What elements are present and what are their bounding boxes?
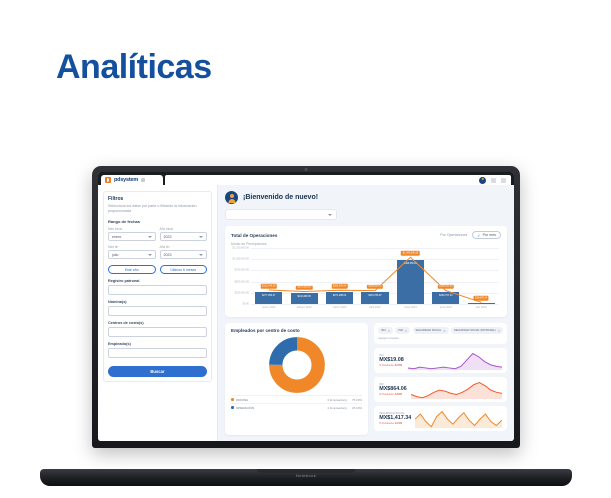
- metric-sparkline: [411, 380, 502, 399]
- metric-value: MX$19.08: [379, 357, 404, 363]
- concepts-tags-card: ISN✕ISR✕SEGURIDAD SOCIAL✕SEGURIDAD SOCIA…: [374, 323, 507, 344]
- bottom-row: Empleados por centro de costo OFICINA6 E…: [225, 323, 507, 435]
- select-year-start-value: 2023: [164, 235, 172, 239]
- trend-value-label: $306,078.44: [331, 284, 347, 289]
- field-label-empleados: Empleado(s): [108, 342, 207, 346]
- trend-value-label: $278,330.18: [296, 285, 312, 290]
- app-body: Filtros Selecciona los datos por parte o…: [98, 185, 514, 441]
- select-year-end-label: Año fin: [160, 245, 208, 249]
- legend-item[interactable]: OFICINA6 Empleado(s)75.00%: [231, 395, 362, 403]
- select-year-end-value: 2023: [164, 253, 172, 257]
- select-year-end[interactable]: 2023: [160, 250, 208, 259]
- browser-tab[interactable]: pdsystem: [101, 175, 163, 185]
- filters-card: Filtros Selecciona los datos por parte o…: [103, 191, 212, 382]
- select-month-start-label: Mes inicio: [108, 227, 156, 231]
- laptop-brand-label: Notebook: [296, 473, 316, 478]
- browser-chrome: pdsystem: [98, 172, 514, 185]
- concept-tag[interactable]: SEGURIDAD SOCIAL✕: [413, 327, 449, 334]
- quick-range-this-year[interactable]: Este año: [108, 265, 156, 274]
- x-axis-tick: febrero 2023: [291, 306, 318, 309]
- metric-value: MX$1,417.34: [379, 415, 411, 421]
- legend-item[interactable]: OPERACIÓN2 Empleado(s)25.00%: [231, 403, 362, 411]
- select-year-start-group: Año inicio 2023: [160, 227, 208, 241]
- chart-plot-area: $277,056.47$243,289.65$271,288.03$264,78…: [251, 248, 499, 304]
- legend-color-dot: [231, 398, 234, 401]
- donut-legend: OFICINA6 Empleado(s)75.00%OPERACIÓN2 Emp…: [231, 395, 362, 411]
- metric-trend-value: -9.21%: [394, 422, 402, 425]
- trend-polyline: [269, 257, 482, 302]
- metric-card[interactable]: SEGURIDAD SOCIALMX$1,417.34% Tendencia -…: [374, 406, 507, 431]
- select-month-end-label: Mes fin: [108, 245, 156, 249]
- filters-sidebar: Filtros Selecciona los datos por parte o…: [98, 185, 218, 441]
- operations-toggle: Por Operaciones ✓ Por mes: [440, 231, 501, 239]
- legend-count: 6 Empleado(s): [328, 398, 348, 402]
- select-month-end-group: Mes fin julio: [108, 245, 156, 259]
- legend-percent: 75.00%: [352, 398, 362, 402]
- close-icon[interactable]: ✕: [443, 329, 445, 333]
- check-icon: ✓: [477, 233, 480, 238]
- operations-card-title: Total de Operaciones: [231, 233, 277, 238]
- close-icon[interactable]: ✕: [498, 329, 500, 333]
- gridline: [251, 304, 499, 305]
- page-container: Analíticas pdsystem: [0, 0, 611, 498]
- select-month-end[interactable]: julio: [108, 250, 156, 259]
- search-icon[interactable]: [501, 178, 506, 183]
- field-nomina[interactable]: [108, 306, 207, 316]
- operations-card: Total de Operaciones Por Operaciones ✓ P…: [225, 226, 507, 317]
- legend-color-dot: [231, 406, 234, 409]
- concept-tag-label: SEGURIDAD SOCIAL: [416, 329, 442, 332]
- toggle-por-operaciones[interactable]: Por Operaciones: [440, 233, 467, 237]
- operations-bar-chart: $0.00$250,000.00$500,000.00$750,000.00$1…: [231, 248, 501, 312]
- concept-tag-label: SEGURIDAD SOCIAL (PATRONAL): [454, 329, 496, 332]
- menu-icon[interactable]: [491, 178, 496, 183]
- metric-trend-value: -8.62%: [394, 393, 402, 396]
- metric-trend-label: % Tendencia: [379, 364, 393, 367]
- chart-trend-line: [251, 248, 499, 304]
- metric-trend-label: % Tendencia: [379, 393, 393, 396]
- operations-card-header: Total de Operaciones Por Operaciones ✓ P…: [231, 231, 501, 239]
- select-month-end-value: julio: [112, 253, 118, 257]
- logo-text: pdsystem: [114, 177, 138, 183]
- laptop-base: Notebook: [40, 469, 572, 486]
- legend-count: 2 Empleado(s): [328, 406, 348, 410]
- sparkline-area: [415, 411, 502, 427]
- metrics-column: ISN✕ISR✕SEGURIDAD SOCIAL✕SEGURIDAD SOCIA…: [374, 323, 507, 435]
- donut-chart: [231, 333, 362, 395]
- quick-range-last-6-months[interactable]: Últimos 6 meses: [160, 265, 208, 274]
- user-avatar: [225, 191, 238, 204]
- x-axis-tick: marzo 2023: [326, 306, 353, 309]
- field-centros-de-costo[interactable]: [108, 327, 207, 337]
- laptop-lid: pdsystem Filtros Selecc: [92, 166, 520, 448]
- chevron-down-icon: [199, 254, 203, 256]
- field-label-centros-de-costo: Centros de costo(s): [108, 321, 207, 325]
- field-registro-patronal[interactable]: [108, 285, 207, 295]
- metric-text: SEGURIDAD SOCIALMX$1,417.34% Tendencia -…: [379, 412, 411, 425]
- search-button[interactable]: Buscar: [108, 366, 207, 377]
- close-icon[interactable]: ✕: [388, 329, 390, 333]
- trend-value-label: $298,531.02: [438, 284, 454, 289]
- metric-text: ISRMX$864.06% Tendencia -8.62%: [379, 383, 407, 396]
- select-month-start-group: Mes inicio enero: [108, 227, 156, 241]
- legend-percent: 25.00%: [352, 406, 362, 410]
- laptop-screen: pdsystem Filtros Selecc: [98, 172, 514, 441]
- concept-tag[interactable]: SEGURIDAD SOCIAL (PATRONAL)✕: [451, 327, 503, 334]
- add-concept-link[interactable]: Agregar concepto...: [378, 337, 503, 340]
- company-select[interactable]: [225, 209, 337, 220]
- field-label-registro-patronal: Registro patronal: [108, 279, 207, 283]
- legend-label-group: OPERACIÓN: [231, 406, 254, 410]
- chart-x-axis: enero 2023febrero 2023marzo 2023abril 20…: [251, 306, 499, 309]
- x-axis-tick: mayo 2023: [397, 306, 424, 309]
- legend-values: 6 Empleado(s)75.00%: [328, 398, 363, 402]
- chevron-down-icon: [148, 254, 152, 256]
- concept-tag-label: ISN: [381, 329, 385, 332]
- user-avatar-icon[interactable]: [479, 177, 486, 184]
- webcam-icon: [305, 168, 308, 171]
- trend-value-label: $312,046.39: [260, 284, 276, 289]
- y-axis-tick: $250,000.00: [235, 291, 249, 294]
- y-axis-tick: $1,000,000.00: [232, 258, 249, 261]
- metric-trend: % Tendencia -8.62%: [379, 393, 407, 396]
- select-year-end-group: Año fin 2023: [160, 245, 208, 259]
- date-range-grid: Mes inicio enero Año inicio 20: [108, 227, 207, 259]
- chevron-down-icon: [199, 236, 203, 238]
- metric-sparkline: [415, 409, 502, 428]
- welcome-header: ¡Bienvenido de nuevo!: [225, 191, 507, 204]
- field-empleados[interactable]: [108, 348, 207, 358]
- chart-subtitle: Monto de Percepciones: [231, 242, 501, 246]
- quick-range-buttons: Este año Últimos 6 meses: [108, 265, 207, 274]
- metric-trend-value: -8.47%: [394, 364, 402, 367]
- y-axis-tick: $750,000.00: [235, 269, 249, 272]
- concept-tag[interactable]: ISR✕: [395, 327, 410, 334]
- metric-cards: ISNMX$19.08% Tendencia -8.47%ISRMX$864.0…: [374, 348, 507, 435]
- laptop-mockup: pdsystem Filtros Selecc: [40, 166, 572, 486]
- y-axis-tick: $500,000.00: [235, 280, 249, 283]
- field-label-nomina: Nómina(s): [108, 300, 207, 304]
- toggle-por-mes[interactable]: ✓ Por mes: [472, 231, 501, 239]
- concept-tag[interactable]: ISN✕: [378, 327, 393, 334]
- y-axis-tick: $0.00: [243, 303, 250, 306]
- donut-svg: [269, 337, 325, 393]
- select-month-start[interactable]: enero: [108, 232, 156, 241]
- concept-tag-label: ISR: [398, 329, 402, 332]
- main-content: ¡Bienvenido de nuevo! Total de Operacion…: [218, 185, 514, 441]
- x-axis-tick: abril 2023: [361, 306, 388, 309]
- page-title: Analíticas: [56, 48, 212, 87]
- browser-urlbar[interactable]: [165, 175, 511, 185]
- close-icon[interactable]: [141, 178, 145, 182]
- trend-value-label: $299,550.11: [367, 284, 383, 289]
- legend-label: OFICINA: [236, 398, 248, 402]
- filters-description: Selecciona los datos por parte o filtran…: [108, 204, 207, 214]
- x-axis-tick: julio 2023: [468, 306, 495, 309]
- metric-trend-label: % Tendencia: [379, 422, 393, 425]
- metric-card[interactable]: ISRMX$864.06% Tendencia -8.62%: [374, 377, 507, 402]
- filters-title: Filtros: [108, 196, 207, 202]
- pdsystem-logo-icon: [105, 177, 111, 183]
- welcome-text: ¡Bienvenido de nuevo!: [243, 194, 318, 201]
- select-month-start-value: enero: [112, 235, 121, 239]
- trend-value-label: $38,976.44: [474, 296, 489, 301]
- close-icon[interactable]: ✕: [405, 329, 407, 333]
- metric-trend: % Tendencia -9.21%: [379, 422, 411, 425]
- metric-card[interactable]: ISNMX$19.08% Tendencia -8.47%: [374, 348, 507, 373]
- metric-trend: % Tendencia -8.47%: [379, 364, 404, 367]
- select-year-start[interactable]: 2023: [160, 232, 208, 241]
- toggle-por-mes-label: Por mes: [483, 233, 496, 237]
- select-year-start-label: Año inicio: [160, 227, 208, 231]
- chevron-down-icon: [328, 214, 332, 216]
- x-axis-tick: junio 2023: [432, 306, 459, 309]
- legend-values: 2 Empleado(s)25.00%: [328, 406, 363, 410]
- concept-tags: ISN✕ISR✕SEGURIDAD SOCIAL✕SEGURIDAD SOCIA…: [378, 327, 503, 334]
- legend-label: OPERACIÓN: [236, 406, 254, 410]
- metric-sparkline: [408, 351, 502, 370]
- metric-value: MX$864.06: [379, 386, 407, 392]
- trend-value-label: $1,043,068.38: [401, 251, 419, 256]
- y-axis-tick: $1,250,000.00: [232, 247, 249, 250]
- x-axis-tick: enero 2023: [255, 306, 282, 309]
- chart-y-axis: $0.00$250,000.00$500,000.00$750,000.00$1…: [231, 248, 251, 304]
- metric-text: ISNMX$19.08% Tendencia -8.47%: [379, 354, 404, 367]
- date-range-label: Rango de fechas: [108, 219, 207, 224]
- legend-label-group: OFICINA: [231, 398, 248, 402]
- cost-center-card: Empleados por centro de costo OFICINA6 E…: [225, 323, 368, 435]
- chevron-down-icon: [148, 236, 152, 238]
